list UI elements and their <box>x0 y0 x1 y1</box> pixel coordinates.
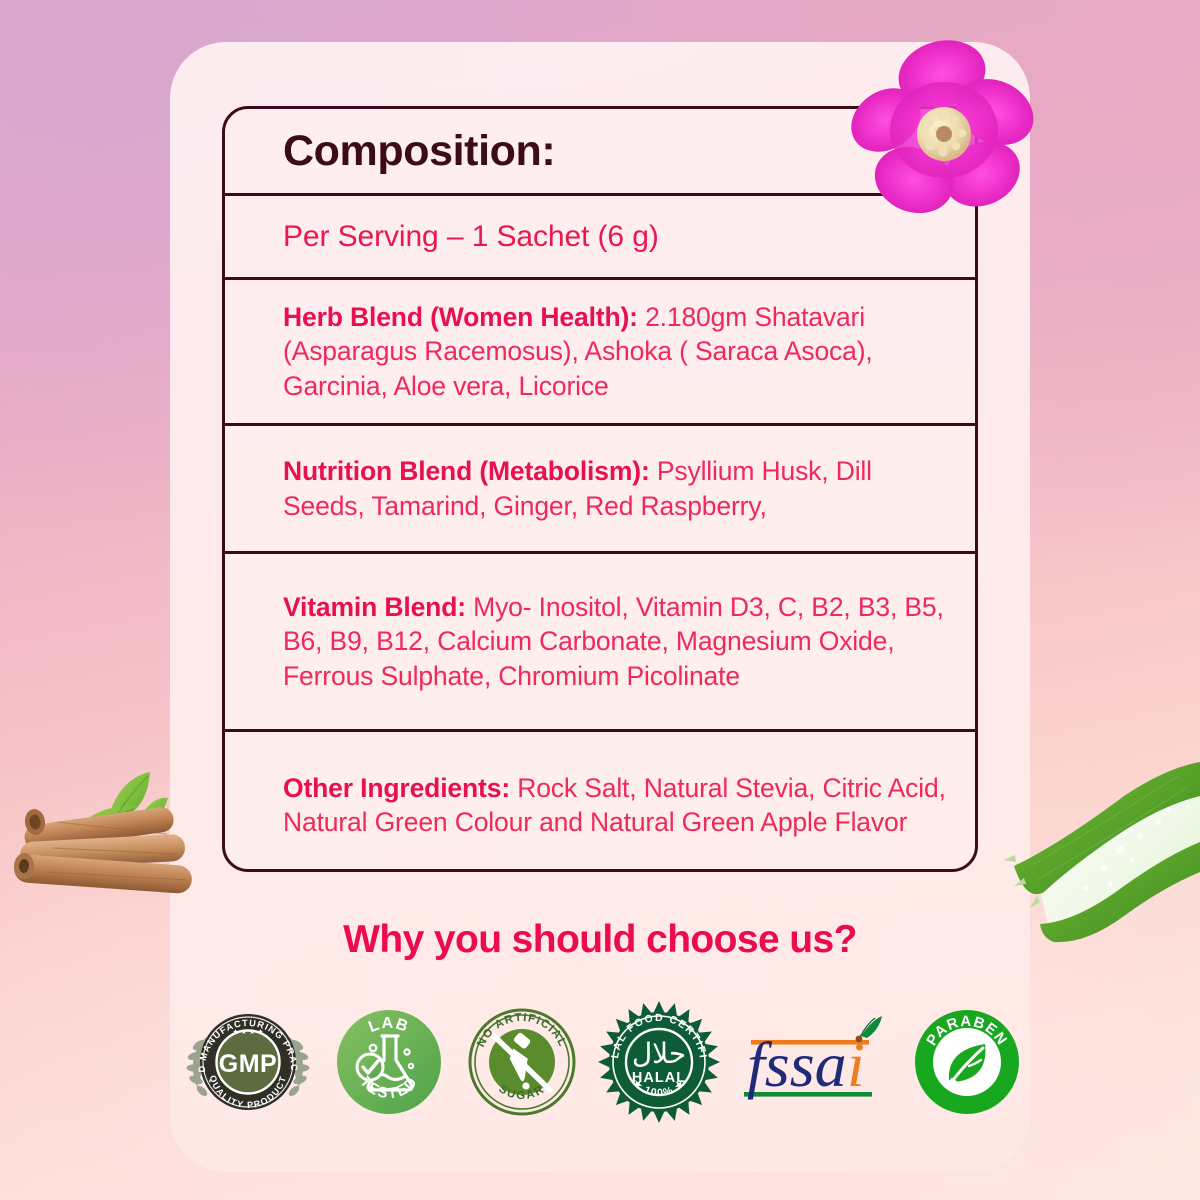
fssai-logo-icon: fssa i <box>739 1010 889 1114</box>
why-choose-heading: Why you should choose us? <box>0 918 1200 962</box>
halal-badge: HALAL FOOD CERTIFIED حلال HALAL ★ 100% ★ <box>598 1001 720 1123</box>
composition-title-row: Composition: <box>225 109 975 193</box>
no-artificial-sugar-badge: NO ARTIFICIAL SUGAR <box>466 1006 578 1118</box>
gmp-stars: ★ ★ ★ ★ <box>233 1028 264 1036</box>
ingredient-text: Herb Blend (Women Health): 2.180gm Shata… <box>283 300 975 403</box>
ingredient-row-vitamin-blend: Vitamin Blend: Myo- Inositol, Vitamin D3… <box>225 551 975 729</box>
ingredient-row-herb-blend: Herb Blend (Women Health): 2.180gm Shata… <box>225 277 975 423</box>
ingredient-text: Other Ingredients: Rock Salt, Natural St… <box>283 771 975 840</box>
ingredient-label: Nutrition Blend (Metabolism): <box>283 456 650 486</box>
page-title: Composition: <box>283 127 555 176</box>
lab-tested-badge: LAB TESTED <box>331 1004 447 1120</box>
composition-table: Composition: Per Serving – 1 Sachet (6 g… <box>222 106 978 872</box>
lab-tested-seal-icon: LAB TESTED <box>331 1004 447 1120</box>
ingredient-row-other-ingredients: Other Ingredients: Rock Salt, Natural St… <box>225 729 975 878</box>
ingredient-text: Nutrition Blend (Metabolism): Psyllium H… <box>283 454 975 523</box>
no-artificial-sugar-seal-icon: NO ARTIFICIAL SUGAR <box>466 1006 578 1118</box>
ingredient-text: Vitamin Blend: Myo- Inositol, Vitamin D3… <box>283 590 975 693</box>
paraben-free-seal-icon: PARABEN FREE <box>909 1004 1025 1120</box>
gmp-badge: GOOD MANUFACTURING PRACTICE QUALITY PROD… <box>185 999 311 1125</box>
certification-badge-strip: GOOD MANUFACTURING PRACTICE QUALITY PROD… <box>185 996 1025 1128</box>
ingredient-label: Other Ingredients: <box>283 773 510 803</box>
serving-text: Per Serving – 1 Sachet (6 g) <box>283 220 659 254</box>
paraben-free-badge: PARABEN FREE <box>909 1004 1025 1120</box>
gmp-seal-icon: GOOD MANUFACTURING PRACTICE QUALITY PROD… <box>185 999 311 1125</box>
ingredient-label: Herb Blend (Women Health): <box>283 302 638 332</box>
fssai-logo: fssa i <box>739 1010 889 1114</box>
ingredient-label: Vitamin Blend: <box>283 592 466 622</box>
composition-poster: Composition: Per Serving – 1 Sachet (6 g… <box>0 0 1200 1200</box>
halal-seal-icon: HALAL FOOD CERTIFIED حلال HALAL ★ 100% ★ <box>598 1001 720 1123</box>
gmp-center-text: GMP <box>219 1050 277 1078</box>
halal-arabic-text: حلال <box>632 1037 686 1070</box>
ingredient-row-nutrition-blend: Nutrition Blend (Metabolism): Psyllium H… <box>225 423 975 551</box>
serving-row: Per Serving – 1 Sachet (6 g) <box>225 193 975 277</box>
fssai-wordmark: fssa <box>747 1029 847 1100</box>
